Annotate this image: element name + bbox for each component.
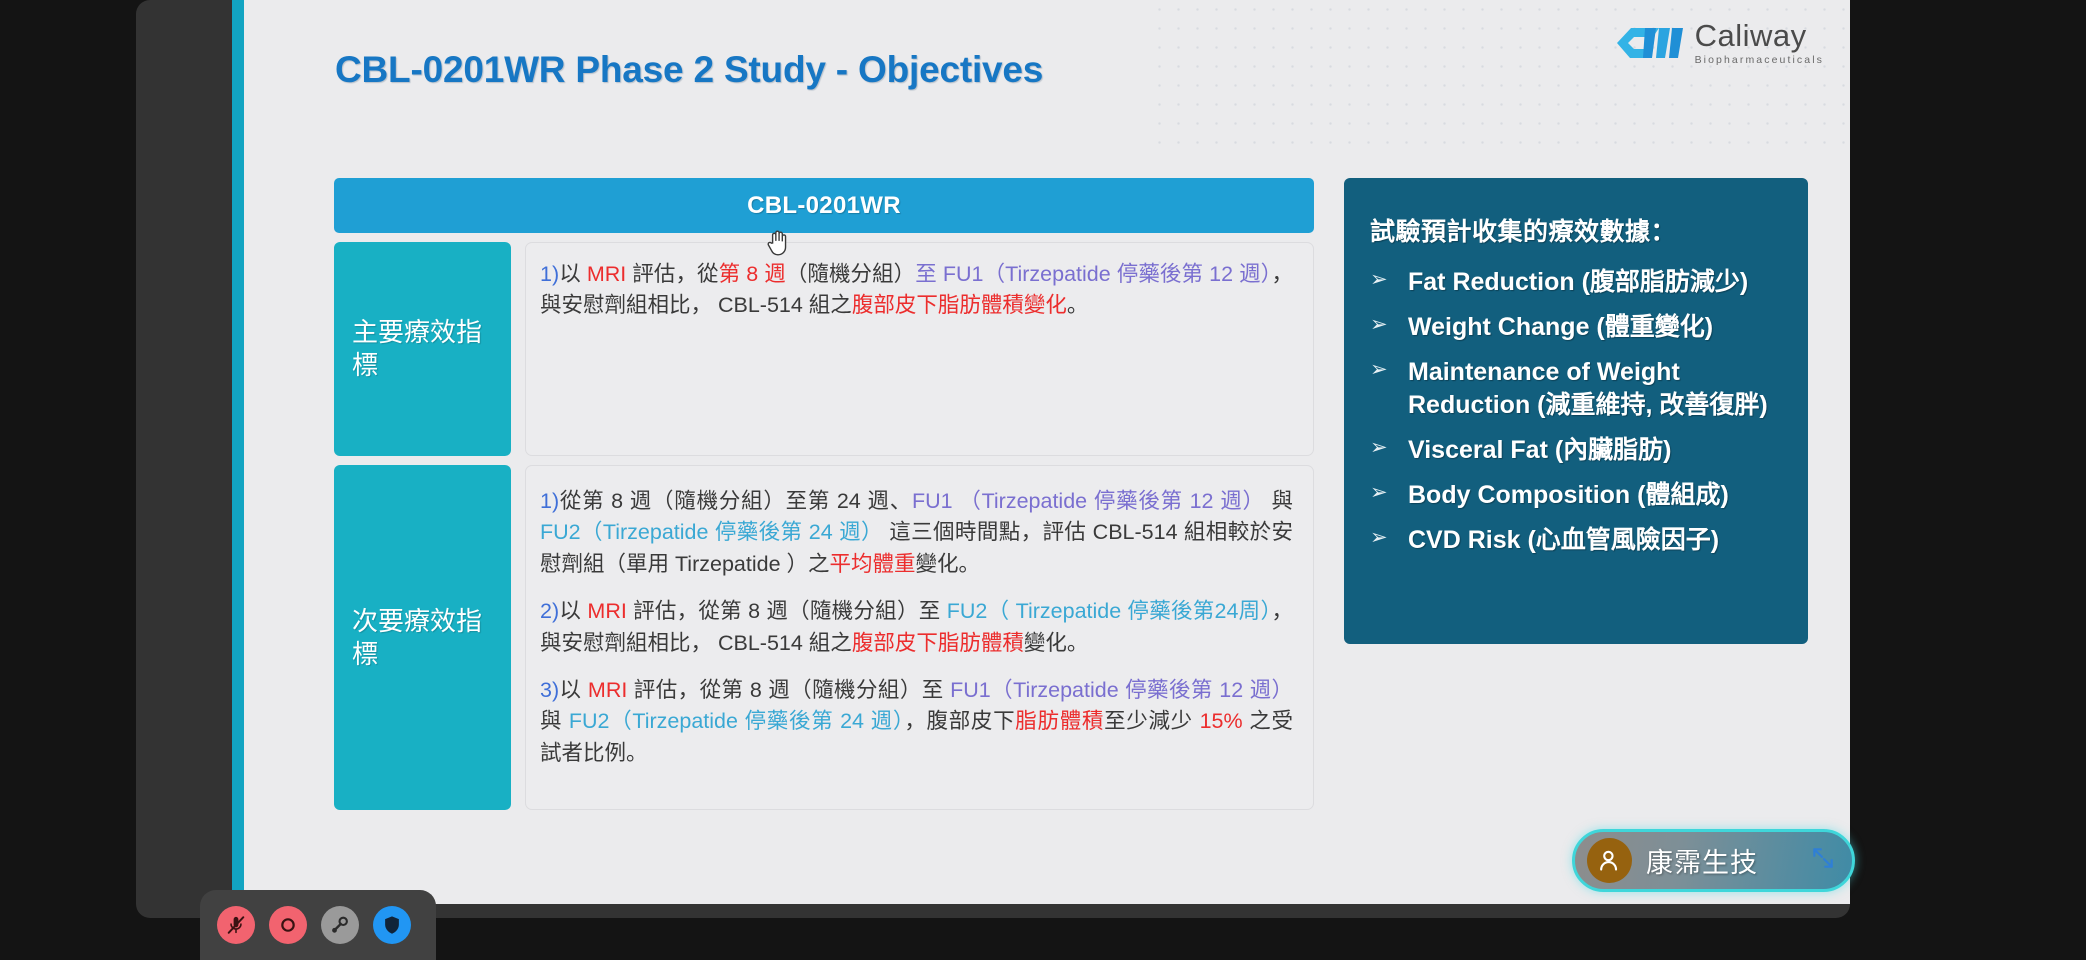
text-seg: （隨機分組） [786,262,915,286]
text-seg-outcome: 腹部皮下脂肪體積變化 [852,293,1067,317]
text-seg: 變化。 [1024,631,1089,655]
secondary-endpoint-paragraph-1: 1)從第 8 週（隨機分組）至第 24 週、FU1 （Tirzepatide 停… [540,486,1293,580]
item-number: 1) [540,262,559,286]
text-seg-outcome: 平均體重 [830,552,916,576]
microphone-muted-icon [225,914,247,936]
logo-company-tagline: Biopharmaceuticals [1695,55,1824,66]
text-seg: 評估，從第 8 週（隨機分組）至 [627,599,947,623]
efficacy-bullet-item: ➢ Fat Reduction (腹部脂肪減少) [1370,266,1784,299]
text-seg-threshold: 15% [1200,709,1243,733]
microphone-muted-button[interactable] [217,906,255,944]
record-circle-icon [277,914,299,936]
efficacy-bullet-item: ➢ Visceral Fat (內臟脂肪) [1370,434,1784,467]
secondary-endpoint-paragraph-2: 2)以 MRI 評估，從第 8 週（隨機分組）至 FU2（ Tirzepatid… [540,596,1293,659]
efficacy-bullet-label: CVD Risk (心血管風險因子) [1408,524,1719,557]
arrow-bullet-icon: ➢ [1370,524,1408,552]
efficacy-box-title: 試驗預計收集的療效數據： [1370,212,1784,248]
expand-diagonal-icon [1810,845,1836,871]
shield-icon [381,914,403,936]
text-seg-outcome: 脂肪體積 [1015,709,1104,733]
table-header-study-code: CBL-0201WR [334,178,1314,233]
text-seg: 以 [559,262,587,286]
person-icon [1596,847,1623,874]
presentation-slide: Caliway Biopharmaceuticals CBL-0201WR Ph… [244,0,1850,904]
expected-efficacy-data-box: 試驗預計收集的療效數據： ➢ Fat Reduction (腹部脂肪減少) ➢ … [1344,178,1808,644]
text-seg: 評估，從第 8 週（隨機分組）至 [627,678,950,702]
text-seg-fu2: FU2（Tirzepatide 停藥後第 24 週） [540,520,883,544]
efficacy-bullet-label: Weight Change (體重變化) [1408,311,1713,344]
text-seg: 評估，從 [626,262,718,286]
efficacy-bullet-item: ➢ Body Composition (體組成) [1370,479,1784,512]
arrow-bullet-icon: ➢ [1370,434,1408,462]
secondary-endpoint-paragraph-3: 3)以 MRI 評估，從第 8 週（隨機分組）至 FU1（Tirzepatide… [540,675,1293,769]
cw-mark-icon [1615,26,1683,60]
arrow-bullet-icon: ➢ [1370,311,1408,339]
secondary-endpoint-label: 次要療效指標 [334,465,511,810]
efficacy-bullet-label: Fat Reduction (腹部脂肪減少) [1408,266,1748,299]
logo-company-name: Caliway [1695,20,1824,51]
expand-button[interactable] [1810,845,1836,876]
table-row-secondary-endpoint: 次要療效指標 1)從第 8 週（隨機分組）至第 24 週、FU1 （Tirzep… [334,465,1314,810]
table-row-primary-endpoint: 主要療效指標 1)以 MRI 評估，從第 8 週（隨機分組）至 FU1（Tirz… [334,242,1314,456]
text-seg: 與 [540,709,569,733]
text-seg: 至少減少 [1104,709,1199,733]
arrow-bullet-icon: ➢ [1370,479,1408,507]
text-seg: ，腹部皮下 [904,709,1015,733]
efficacy-bullet-label: Body Composition (體組成) [1408,479,1729,512]
key-button[interactable] [321,906,359,944]
item-number: 2) [540,599,559,623]
primary-endpoint-paragraph: 1)以 MRI 評估，從第 8 週（隨機分組）至 FU1（Tirzepatide… [540,259,1293,322]
arrow-bullet-icon: ➢ [1370,356,1408,384]
avatar [1587,838,1632,883]
record-stop-button[interactable] [269,906,307,944]
efficacy-bullet-item: ➢ Maintenance of Weight Reduction (減重維持,… [1370,356,1784,422]
text-seg-fu1: FU1（Tirzepatide 停藥後第 12 週） [950,678,1293,702]
primary-endpoint-body: 1)以 MRI 評估，從第 8 週（隨機分組）至 FU1（Tirzepatide… [525,242,1314,456]
text-seg-fu2: FU2（ Tirzepatide 停藥後第24周） [947,599,1272,623]
text-seg: 變化。 [916,552,981,576]
text-seg-fu1: FU1 （Tirzepatide 停藥後第 12 週） [912,489,1265,513]
key-icon [329,914,351,936]
efficacy-bullet-item: ➢ CVD Risk (心血管風險因子) [1370,524,1784,557]
primary-endpoint-label: 主要療效指標 [334,242,511,456]
efficacy-bullet-label: Visceral Fat (內臟脂肪) [1408,434,1672,467]
text-seg: 以 [559,599,587,623]
security-shield-button[interactable] [373,906,411,944]
text-seg: 。 [1067,293,1089,317]
secondary-endpoint-body: 1)從第 8 週（隨機分組）至第 24 週、FU1 （Tirzepatide 停… [525,465,1314,810]
active-speaker-badge[interactable]: 康霈生技 [1572,829,1855,892]
text-seg-week8: 第 8 週 [719,262,786,286]
text-seg: 以 [559,678,588,702]
text-seg: 與 [1265,489,1293,513]
item-number: 3) [540,678,559,702]
text-seg-fu2: FU2（Tirzepatide 停藥後第 24 週） [569,709,904,733]
text-seg-fu1: 至 FU1（Tirzepatide 停藥後第 12 週） [915,262,1271,286]
caliway-logo: Caliway Biopharmaceuticals [1615,16,1824,70]
arrow-bullet-icon: ➢ [1370,266,1408,294]
text-seg: 從第 8 週（隨機分組）至第 24 週、 [559,489,912,513]
speaker-name: 康霈生技 [1646,841,1758,880]
text-seg-outcome: 腹部皮下脂肪體積 [852,631,1024,655]
meeting-controls-toolbar[interactable] [200,890,436,960]
slide-left-accent-strip [232,0,244,918]
text-seg-mri: MRI [587,262,626,286]
item-number: 1) [540,489,559,513]
efficacy-bullet-label: Maintenance of Weight Reduction (減重維持, 改… [1408,356,1784,422]
screen-share-stage: Caliway Biopharmaceuticals CBL-0201WR Ph… [0,0,2086,960]
text-seg-mri: MRI [588,678,627,702]
objectives-table: CBL-0201WR 主要療效指標 1)以 MRI 評估，從第 8 週（隨機分組… [334,178,1314,810]
efficacy-bullet-item: ➢ Weight Change (體重變化) [1370,311,1784,344]
text-seg-mri: MRI [587,599,626,623]
slide-title: CBL-0201WR Phase 2 Study - Objectives [335,49,1043,91]
